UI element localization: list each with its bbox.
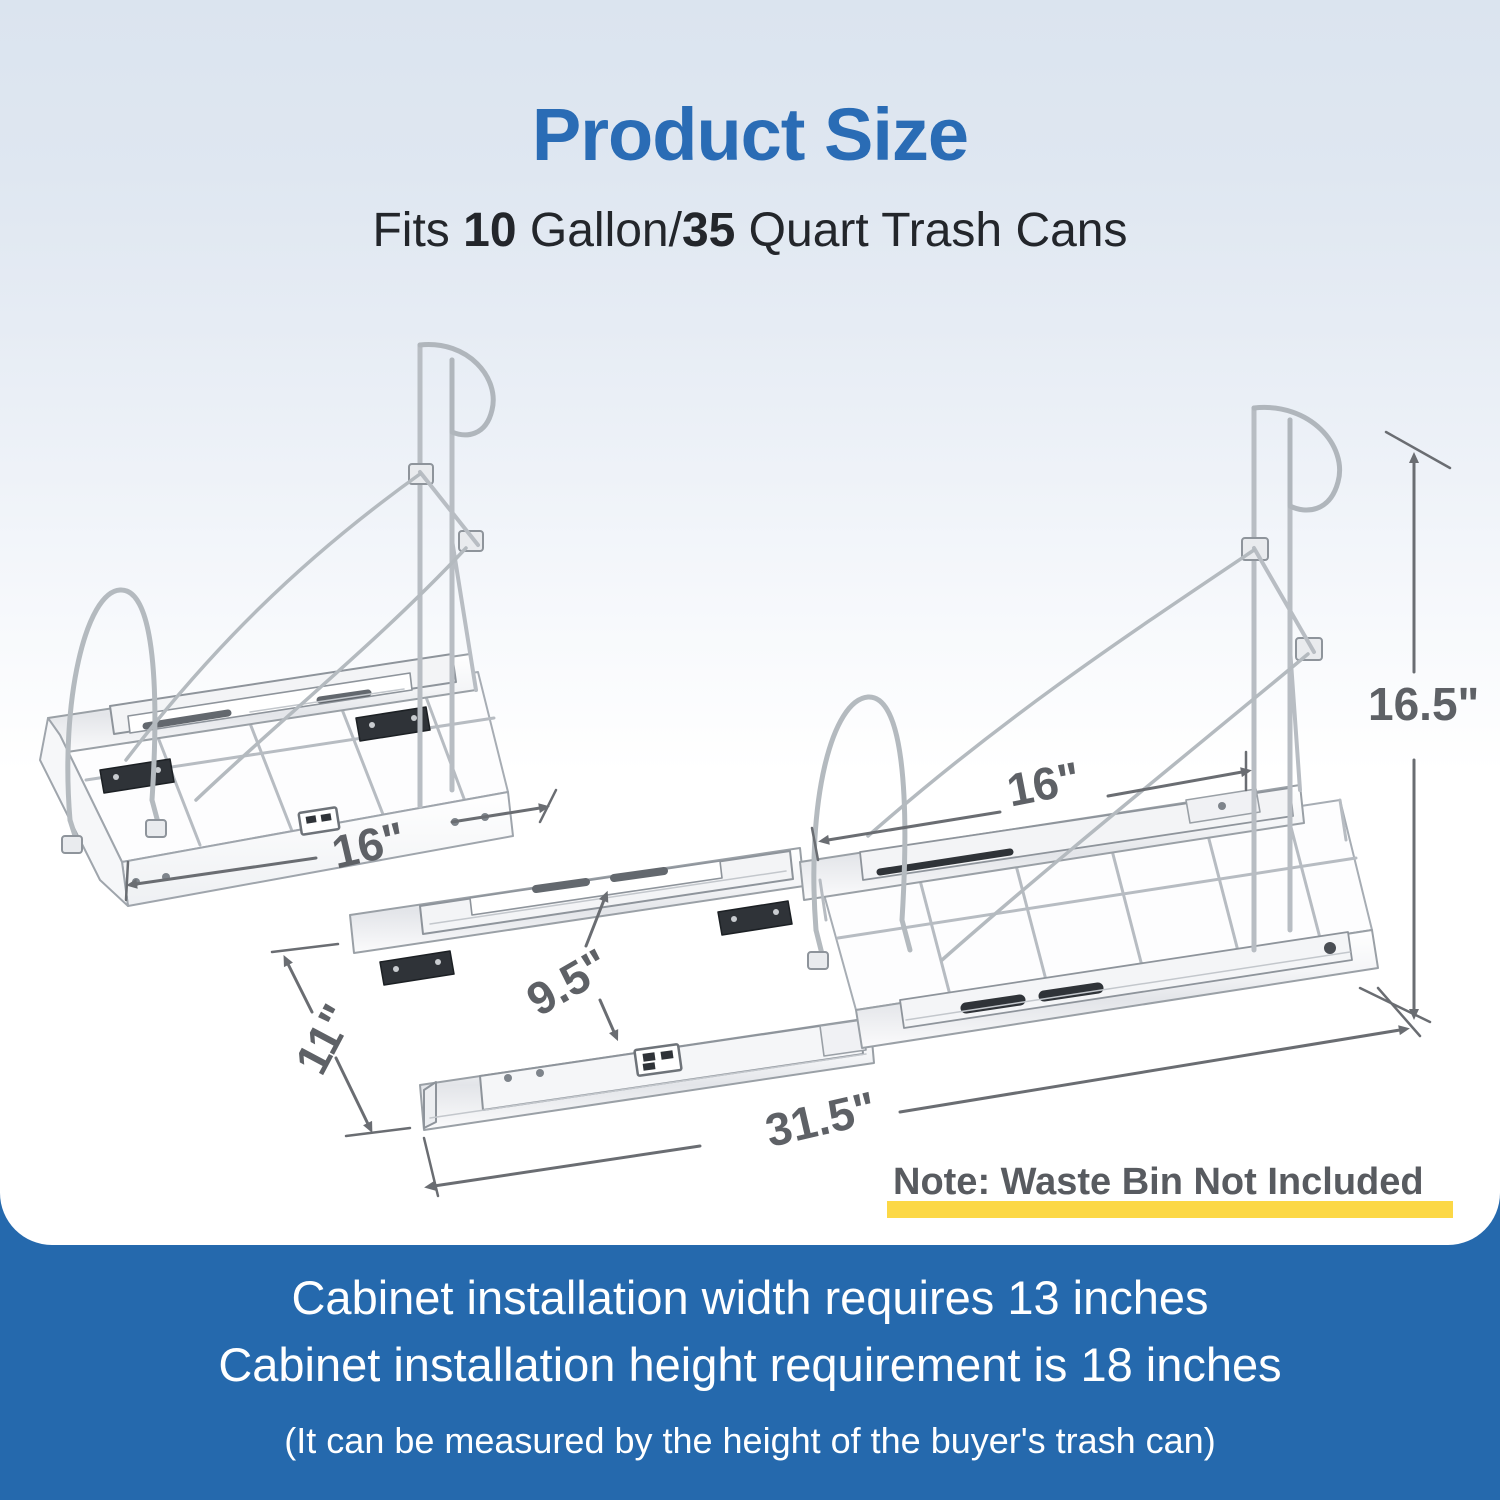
dimension-label-height: 16.5" bbox=[1368, 677, 1479, 731]
product-drawing-svg bbox=[0, 0, 1500, 1245]
infographic-root: Product Size Fits 10 Gallon/35 Quart Tra… bbox=[0, 0, 1500, 1500]
banner-line-measure-hint: (It can be measured by the height of the… bbox=[0, 1420, 1500, 1462]
left-basket-unit bbox=[40, 345, 513, 906]
note-text: Note: Waste Bin Not Included bbox=[893, 1161, 1424, 1204]
content-card: Product Size Fits 10 Gallon/35 Quart Tra… bbox=[0, 0, 1500, 1245]
product-illustration: 16" 16" 16.5" 9.5" 11" 31.5" bbox=[0, 0, 1500, 1245]
banner-line-height-requirement: Cabinet installation height requirement … bbox=[0, 1337, 1500, 1392]
note-callout: Note: Waste Bin Not Included bbox=[893, 1161, 1424, 1204]
banner-line-width-requirement: Cabinet installation width requires 13 i… bbox=[0, 1270, 1500, 1325]
right-basket-unit bbox=[800, 407, 1378, 1048]
slide-rail-assembly bbox=[350, 848, 874, 1130]
